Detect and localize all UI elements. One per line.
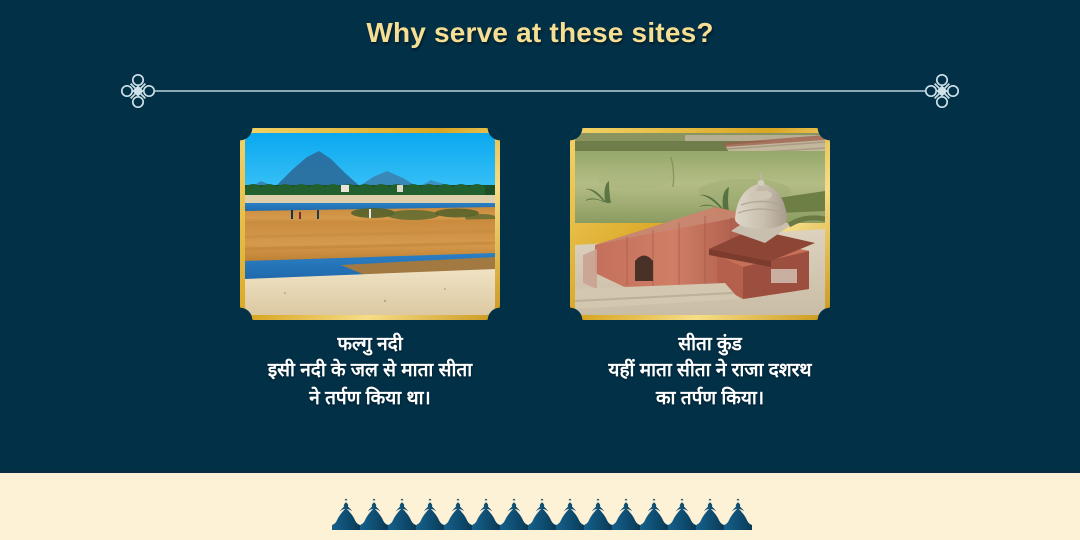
temple-dome-icon <box>444 492 472 530</box>
temple-dome-icon <box>332 492 360 530</box>
caption-desc-sita-kund-line2: का तर्पण किया। <box>545 386 875 413</box>
caption-title-sita-kund: सीता कुंड <box>545 332 875 357</box>
temple-dome-icon <box>724 492 752 530</box>
temple-dome-icon <box>668 492 696 530</box>
caption-desc-falgu-line2: ने तर्पण किया था। <box>205 386 535 413</box>
temple-dome-motif-row <box>332 492 752 530</box>
temple-dome-icon <box>584 492 612 530</box>
temple-dome-icon <box>612 492 640 530</box>
photo-frame-falgu <box>240 128 500 320</box>
footer-band <box>0 471 1080 540</box>
caption-title-falgu: फल्गु नदी <box>205 332 535 357</box>
page-title: Why serve at these sites? <box>0 17 1080 49</box>
temple-dome-icon <box>528 492 556 530</box>
caption-sita-kund: सीता कुंड यहीं माता सीता ने राजा दशरथ का… <box>545 332 875 413</box>
temple-dome-icon <box>360 492 388 530</box>
sita-kund-photo <box>575 133 825 315</box>
falgu-river-photo <box>245 133 495 315</box>
photo-frame-sita-kund <box>570 128 830 320</box>
caption-desc-sita-kund-line1: यहीं माता सीता ने राजा दशरथ <box>545 358 875 385</box>
temple-dome-icon <box>556 492 584 530</box>
caption-desc-falgu-line1: इसी नदी के जल से माता सीता <box>205 358 535 385</box>
temple-dome-icon <box>416 492 444 530</box>
temple-dome-icon <box>388 492 416 530</box>
temple-dome-icon <box>472 492 500 530</box>
temple-dome-icon <box>640 492 668 530</box>
slide-root: Why serve at these sites? <box>0 0 1080 540</box>
ornamental-divider <box>110 72 970 110</box>
caption-falgu: फल्गु नदी इसी नदी के जल से माता सीता ने … <box>205 332 535 413</box>
temple-dome-icon <box>500 492 528 530</box>
temple-dome-icon <box>696 492 724 530</box>
